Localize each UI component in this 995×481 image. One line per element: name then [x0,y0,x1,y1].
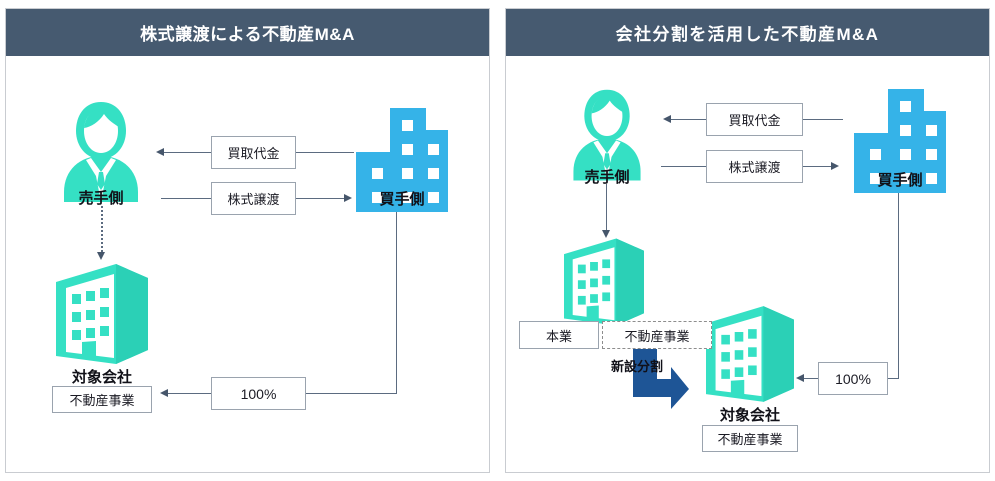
flow-line-share-right [803,166,831,167]
flow-line-payment-left [161,152,211,153]
office-building-teal-icon [564,238,644,326]
ownership-line-horizontal-left [166,393,211,394]
panel-share-transfer: 株式譲渡による不動産M&A 売手側 [5,8,490,473]
ownership-line-vertical [898,186,899,378]
buyer-caption: 買手側 [854,169,946,190]
target-business-label: 不動産事業 [52,386,152,413]
seller-caption: 売手側 [58,187,144,208]
target-caption: 対象会社 [52,366,152,387]
ownership-dotted-arrow [97,252,105,260]
segment-label-main-business: 本業 [519,321,599,349]
ownership-line-vertical [396,204,397,393]
target-caption: 対象会社 [702,404,798,425]
ownership-solid-line [606,184,607,230]
ownership-percent-label: 100% [818,362,888,395]
flow-arrow-payment [663,115,671,123]
seller-caption: 売手側 [568,166,646,187]
panel-title-company-split: 会社分割を活用した不動産M&A [506,9,989,56]
flow-line-share-right [296,198,344,199]
panel-company-split: 会社分割を活用した不動産M&A 売手側 [505,8,990,473]
ownership-line-horizontal-left [803,378,819,379]
panel-body-share-transfer: 売手側 買手側 買取代金 [6,56,489,472]
office-building-teal-icon [706,306,794,402]
flow-arrow-share [831,162,839,170]
office-building-teal-icon [56,264,148,364]
flow-label-share: 株式譲渡 [211,182,296,215]
ownership-line-horizontal-right [306,393,397,394]
ownership-percent-label: 100% [211,377,306,410]
ownership-dotted-line [101,206,103,252]
flow-line-share-left [161,198,211,199]
ownership-arrow [796,374,804,382]
flow-label-payment: 買取代金 [211,136,296,169]
buyer-caption: 買手側 [356,188,448,209]
flow-arrow-share [344,194,352,202]
flow-arrow-payment [156,148,164,156]
diagram-canvas: 株式譲渡による不動産M&A 売手側 [0,0,995,481]
ownership-arrow [160,389,168,397]
flow-line-payment-left [669,119,706,120]
flow-line-payment-right [803,119,843,120]
panel-title-share-transfer: 株式譲渡による不動産M&A [6,9,489,56]
flow-line-share-left [661,166,706,167]
flow-line-payment-right [296,152,354,153]
split-label: 新設分割 [611,356,663,375]
panel-body-company-split: 売手側 買手側 買取代金 [506,56,989,472]
ownership-solid-arrow [602,230,610,238]
segment-label-realestate-business: 不動産事業 [602,321,712,349]
target-business-label: 不動産事業 [702,425,798,452]
flow-label-payment: 買取代金 [706,103,803,136]
flow-label-share: 株式譲渡 [706,150,803,183]
